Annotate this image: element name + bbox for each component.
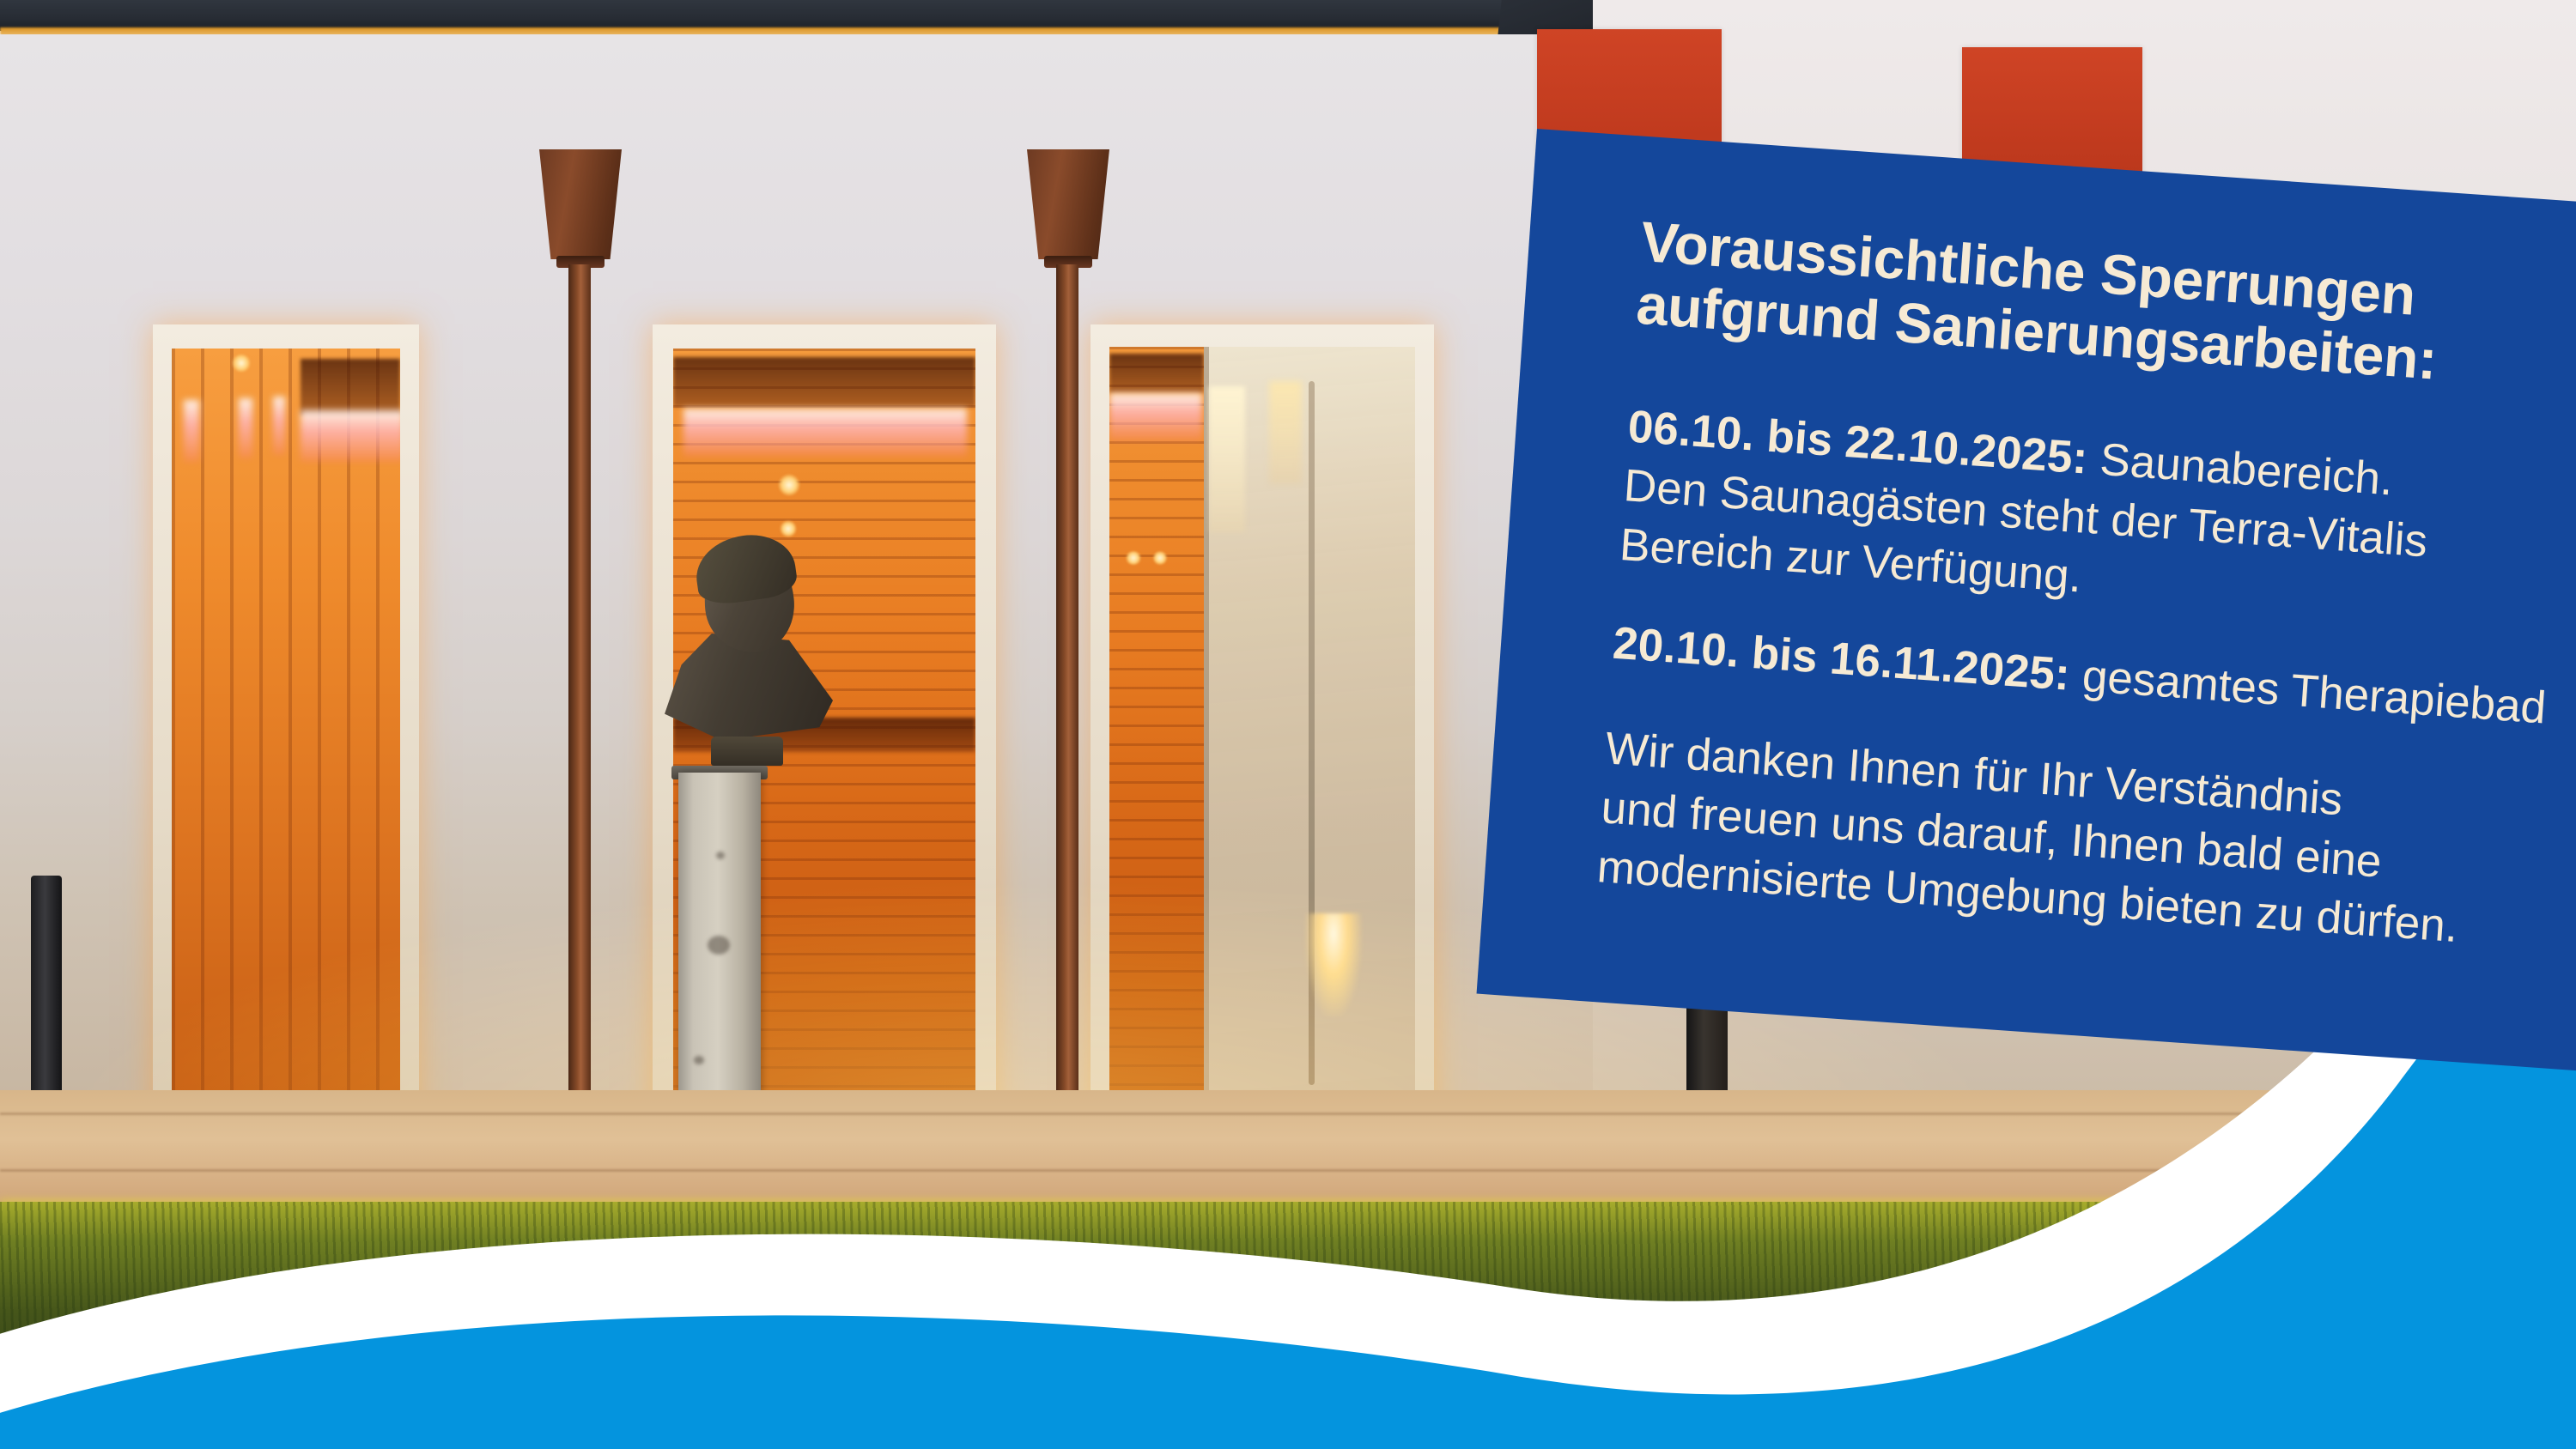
closing-message: Wir danken Ihnen für Ihr Verständnis und… <box>1595 719 2576 964</box>
downspout-head-right <box>1027 149 1109 259</box>
sauna-pink-light <box>683 409 967 457</box>
sauna-pink-light <box>184 400 199 462</box>
sauna-pink-light <box>273 397 285 455</box>
bronze-bust-statue <box>661 541 833 781</box>
announcement-panel: Voraussichtliche Sperrungen aufgrund San… <box>1477 129 2576 1073</box>
sauna-pink-light <box>239 398 252 458</box>
closure-entry-1: 06.10. bis 22.10.2025: Saunabereich. Den… <box>1618 398 2576 643</box>
sauna-pink-light <box>1109 393 1202 441</box>
announcement-title: Voraussichtliche Sperrungen aufgrund San… <box>1635 210 2576 403</box>
sauna-shadow-band <box>1109 354 1204 393</box>
bust-base <box>711 737 783 766</box>
sauna-accent-spot <box>778 474 800 496</box>
closure-1-text-line-1: Saunabereich. <box>2086 433 2395 506</box>
announcement-panel-content: Voraussichtliche Sperrungen aufgrund San… <box>1477 129 2576 1073</box>
downspout-pipe-left <box>568 264 591 1179</box>
lawn-strip <box>0 1202 2576 1449</box>
downspout-head-left <box>539 149 622 259</box>
door-glass-reflection <box>1209 386 1245 532</box>
sauna-ceiling-spot <box>232 354 251 373</box>
closure-2-dates: 20.10. bis 16.11.2025: <box>1611 618 2071 700</box>
downspout-pipe-right <box>1056 264 1078 1179</box>
poster-canvas: Voraussichtliche Sperrungen aufgrund San… <box>0 0 2576 1449</box>
sauna-pink-light <box>301 410 400 462</box>
sauna-shadow-band <box>301 359 400 415</box>
sauna-shadow-band <box>673 357 975 407</box>
roof-band <box>0 0 1597 31</box>
closure-entry-2: 20.10. bis 16.11.2025: gesamtes Therapie… <box>1611 615 2576 742</box>
sauna-accent-spot <box>1125 551 1142 565</box>
sauna-accent-spot <box>780 520 797 537</box>
sauna-accent-spot <box>1152 551 1168 565</box>
door-glass-reflection <box>1269 381 1302 484</box>
closure-2-text-line-1: gesamtes Therapiebad <box>2068 650 2548 734</box>
